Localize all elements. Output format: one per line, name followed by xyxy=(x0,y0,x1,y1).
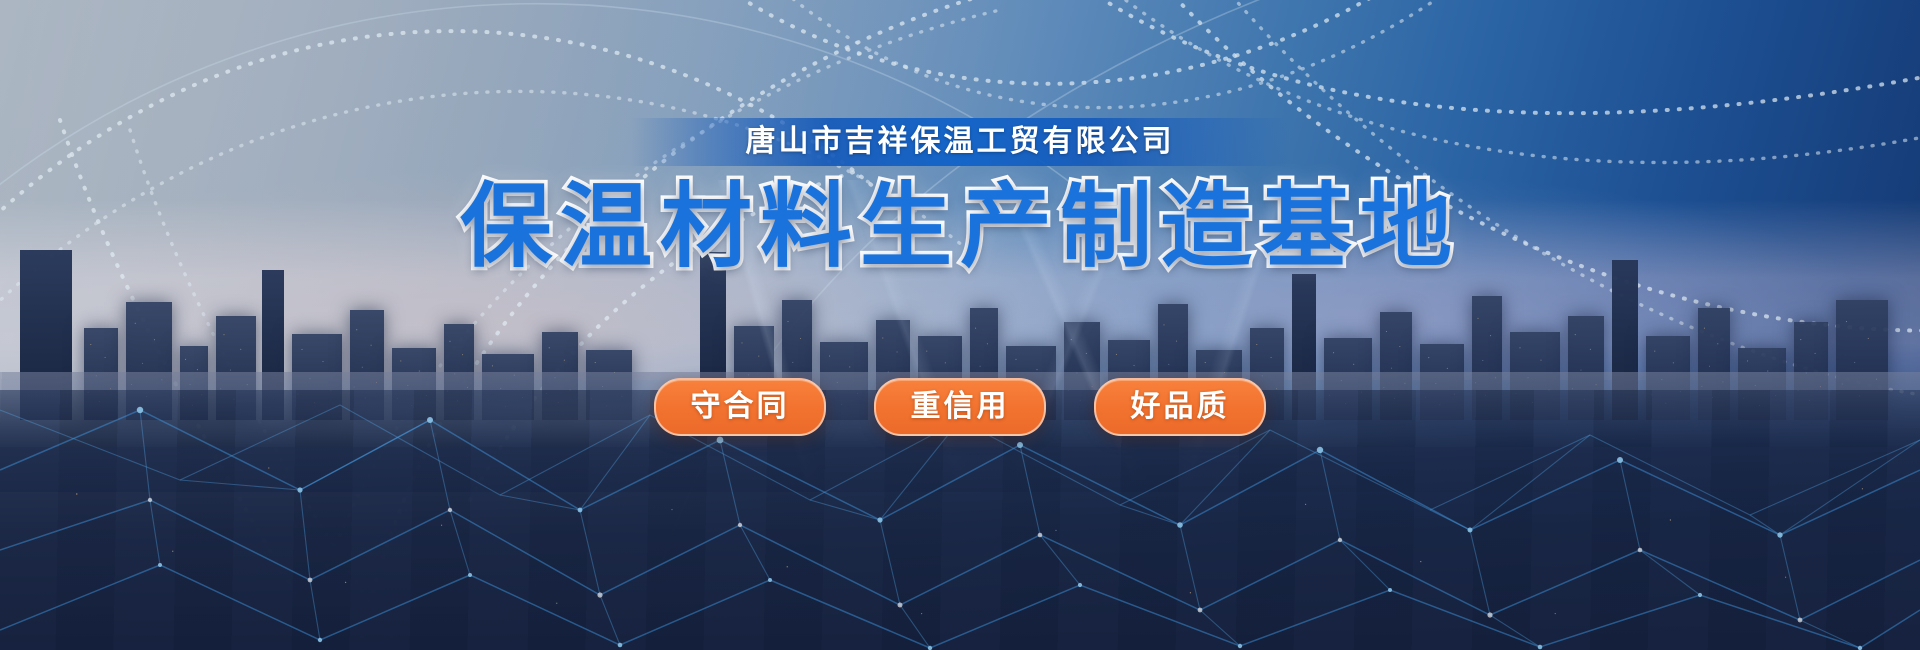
pill-shouhetong-label: 守合同 xyxy=(691,392,790,422)
hero-banner: .dot { fill:none; stroke:#e2ecf4; stroke… xyxy=(0,0,1920,650)
feature-pill-row: 守合同 重信用 好品质 xyxy=(0,378,1920,436)
headline-block: 保温材料生产制造基地 xyxy=(0,178,1920,277)
pill-shouhetong[interactable]: 守合同 xyxy=(654,378,826,436)
pill-zhongxinyong[interactable]: 重信用 xyxy=(874,378,1046,436)
pill-zhongxinyong-label: 重信用 xyxy=(911,392,1010,422)
company-name: 唐山市吉祥保温工贸有限公司 xyxy=(746,127,1175,157)
headline-title: 保温材料生产制造基地 xyxy=(460,178,1460,277)
pill-haopinzhi-label: 好品质 xyxy=(1131,392,1230,422)
company-name-band: 唐山市吉祥保温工贸有限公司 xyxy=(630,118,1290,166)
pill-haopinzhi[interactable]: 好品质 xyxy=(1094,378,1266,436)
banner-content: 唐山市吉祥保温工贸有限公司 保温材料生产制造基地 守合同 重信用 好品质 xyxy=(0,0,1920,650)
